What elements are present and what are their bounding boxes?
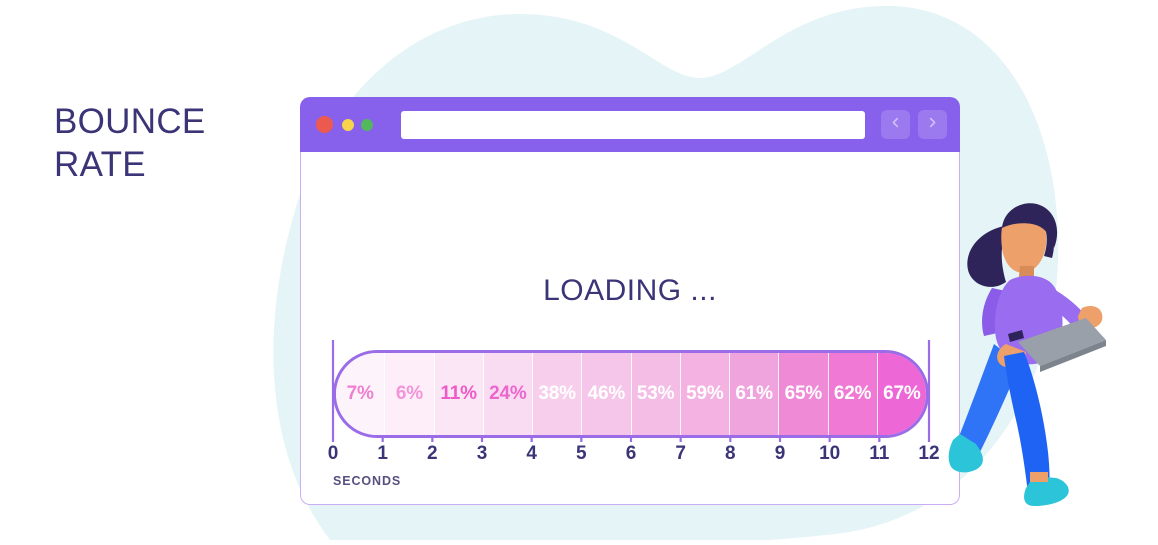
axis-tick-label: 6: [626, 443, 637, 465]
progress-segment: 62%: [829, 353, 878, 435]
axis-tick-label: 12: [918, 443, 939, 465]
progress-segment: 38%: [533, 353, 582, 435]
close-dot-icon[interactable]: [316, 116, 333, 133]
progress-segment: 46%: [582, 353, 631, 435]
axis-tick-label: 7: [675, 443, 686, 465]
maximize-dot-icon[interactable]: [361, 119, 373, 131]
progress-segment: 59%: [681, 353, 730, 435]
chevron-left-icon: [889, 116, 902, 134]
axis-tick-label: 0: [328, 443, 339, 465]
progress-segment: 61%: [730, 353, 779, 435]
page-title: BOUNCE RATE: [54, 101, 206, 186]
axis-tick-label: 10: [819, 443, 840, 465]
axis-tick-label: 11: [869, 443, 889, 465]
axis-tick-label: 9: [775, 443, 786, 465]
chevron-right-icon: [926, 116, 939, 134]
axis-tick-label: 5: [576, 443, 587, 465]
axis-tick-label: 4: [526, 443, 537, 465]
progress-segment: 6%: [385, 353, 434, 435]
progress-segment: 24%: [484, 353, 533, 435]
axis-tick-label: 2: [427, 443, 438, 465]
progress-bar-track: 7%6%11%24%38%46%53%59%61%65%62%67%: [333, 350, 929, 438]
nav-back-button[interactable]: [881, 110, 910, 139]
progress-segment: 53%: [632, 353, 681, 435]
axis-unit-label: SECONDS: [333, 474, 401, 488]
axis-tick-label: 8: [725, 443, 736, 465]
axis-tick-label: 3: [477, 443, 488, 465]
nav-forward-button[interactable]: [918, 110, 947, 139]
progress-segment: 65%: [779, 353, 828, 435]
axis-tick-labels: 0123456789101112: [333, 443, 929, 469]
browser-window-mockup: LOADING ... 7%6%11%24%38%46%53%59%61%65%…: [300, 97, 960, 505]
minimize-dot-icon[interactable]: [342, 119, 354, 131]
ankle: [1030, 472, 1048, 482]
loading-heading: LOADING ...: [301, 274, 959, 308]
progress-segment: 11%: [435, 353, 484, 435]
progress-segment: 67%: [878, 353, 926, 435]
address-bar-input[interactable]: [401, 111, 865, 139]
browser-chrome-bar: [300, 97, 960, 152]
woman-walking-with-laptop-illustration: [948, 176, 1108, 506]
browser-content-area: LOADING ... 7%6%11%24%38%46%53%59%61%65%…: [300, 152, 960, 505]
progress-segment: 7%: [336, 353, 385, 435]
bounce-rate-chart: 7%6%11%24%38%46%53%59%61%65%62%67% 01234…: [333, 350, 929, 495]
axis-tick-label: 1: [377, 443, 388, 465]
